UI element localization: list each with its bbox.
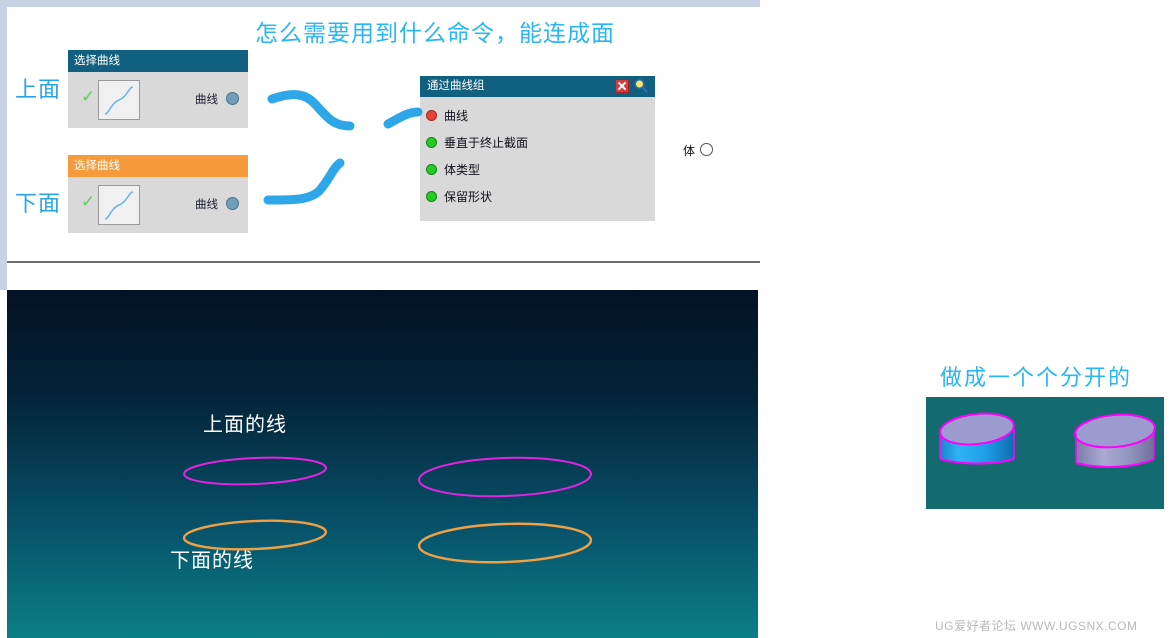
- output-port-hollow[interactable]: [700, 143, 713, 156]
- panel-output-label: 体: [683, 142, 695, 159]
- top-chrome-strip: [0, 0, 760, 7]
- node-port-label: 曲线: [195, 196, 218, 212]
- spline-curve-glyph: [99, 81, 139, 119]
- magnifier-icon[interactable]: [633, 78, 649, 94]
- check-icon: ✓: [81, 88, 95, 105]
- annotation-label-lower: 下面: [15, 186, 61, 218]
- panel-through-curve-mesh[interactable]: 通过曲线组 曲线 垂直于终止截面 体类型: [420, 76, 655, 221]
- watermark: UG爱好者论坛 WWW.UGSNX.COM: [935, 617, 1138, 634]
- panel-row-label: 体类型: [444, 163, 480, 177]
- node-port-label: 曲线: [195, 91, 218, 107]
- close-icon[interactable]: [615, 79, 629, 93]
- spline-curve-icon: [98, 80, 140, 120]
- panel-row-label: 曲线: [444, 109, 468, 123]
- status-bullet-icon: [426, 110, 437, 121]
- solid-cylinder-right: [1074, 412, 1156, 467]
- output-port-dot[interactable]: [226, 197, 239, 210]
- node-header-label: 选择曲线: [68, 155, 248, 177]
- panel-header: 通过曲线组: [420, 76, 655, 97]
- panel-title: 通过曲线组: [427, 80, 485, 92]
- node-body: ✓ 曲线: [68, 177, 248, 233]
- panel-row[interactable]: 体类型: [420, 158, 655, 185]
- spline-curve-icon: [98, 185, 140, 225]
- status-bullet-icon: [426, 137, 437, 148]
- left-chrome-strip: [0, 0, 7, 290]
- panel-row[interactable]: 保留形状: [420, 185, 655, 212]
- check-icon: ✓: [81, 193, 95, 210]
- node-select-curve-upper[interactable]: 选择曲线 ✓ 曲线: [68, 50, 248, 128]
- curve-lower-right: [418, 521, 591, 565]
- annotation-label-upper: 上面: [15, 72, 61, 104]
- output-port-dot[interactable]: [226, 92, 239, 105]
- solid-cylinder-left: [939, 410, 1016, 463]
- node-header-label: 选择曲线: [68, 50, 248, 72]
- cad-viewport[interactable]: [7, 290, 758, 638]
- panel-row-label: 垂直于终止截面: [444, 136, 528, 150]
- panel-row-label: 保留形状: [444, 190, 492, 204]
- node-body: ✓ 曲线: [68, 72, 248, 128]
- curve-upper-left: [184, 455, 327, 487]
- status-bullet-icon: [426, 191, 437, 202]
- page-title: 怎么需要用到什么命令，能连成面: [255, 14, 615, 48]
- node-select-curve-lower[interactable]: 选择曲线 ✓ 曲线: [68, 155, 248, 233]
- panel-row[interactable]: 垂直于终止截面: [420, 131, 655, 158]
- spline-curve-glyph: [99, 186, 139, 224]
- mini-scene-solids: [926, 397, 1164, 509]
- canvas-gap: [7, 263, 760, 290]
- viewport-label-upper-curve: 上面的线: [203, 408, 287, 437]
- viewport-label-lower-curve: 下面的线: [170, 544, 254, 573]
- viewport-curves: [7, 290, 758, 638]
- curve-upper-right: [418, 455, 591, 499]
- panel-row[interactable]: 曲线: [420, 104, 655, 131]
- status-bullet-icon: [426, 164, 437, 175]
- page-root: 怎么需要用到什么命令，能连成面 上面 下面 选择曲线 ✓ 曲线 选择曲线 ✓: [0, 0, 1171, 638]
- mini-3d-scene[interactable]: [926, 397, 1164, 509]
- panel-body: 曲线 垂直于终止截面 体类型 保留形状: [420, 97, 655, 221]
- side-note-title: 做成一个个分开的: [940, 360, 1132, 392]
- magnifier-glyph: [633, 78, 649, 94]
